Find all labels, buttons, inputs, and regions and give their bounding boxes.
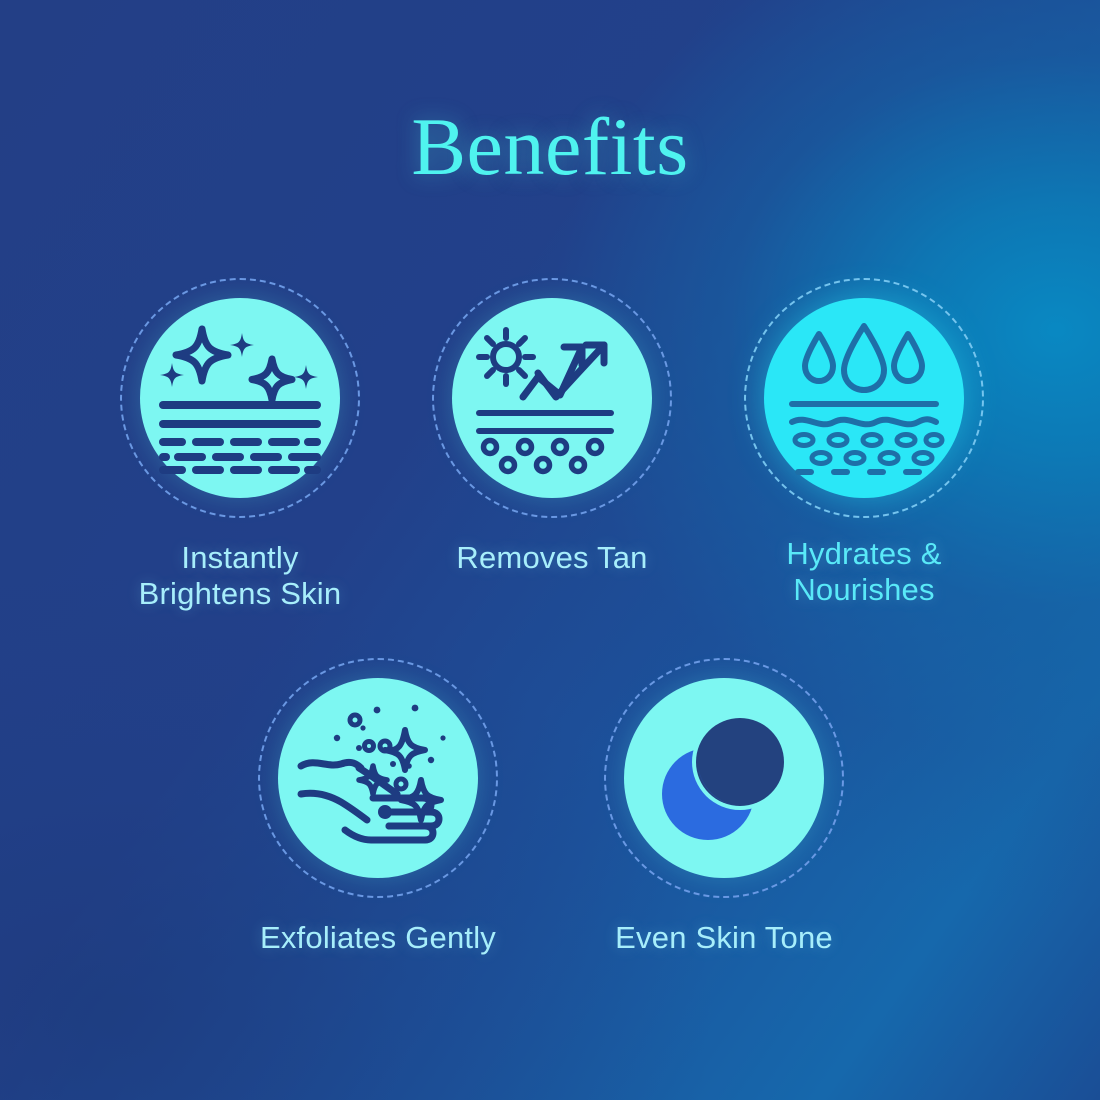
benefit-label-hydrates-nourishes: Hydrates & Nourishes — [674, 536, 1054, 608]
benefit-item-exfoliates-gently[interactable]: Exfoliates Gently — [258, 658, 498, 898]
benefit-item-instantly-brightens-skin[interactable]: Instantly Brightens Skin — [120, 278, 360, 518]
hand-sparkle-scrub-icon — [297, 702, 459, 854]
icon-disc — [624, 678, 824, 878]
benefit-label-exfoliates-gently: Exfoliates Gently — [188, 920, 568, 956]
icon-disc — [764, 298, 964, 498]
icon-disc — [452, 298, 652, 498]
sparkle-skin-layers-icon — [160, 323, 320, 473]
overlapping-tone-circles-icon — [654, 708, 794, 848]
benefits-page: Benefits — [0, 0, 1100, 1100]
page-title: Benefits — [0, 106, 1100, 188]
benefit-item-even-skin-tone[interactable]: Even Skin Tone — [604, 658, 844, 898]
benefit-item-removes-tan[interactable]: Removes Tan — [432, 278, 672, 518]
water-droplets-skin-icon — [789, 324, 939, 472]
icon-disc — [278, 678, 478, 878]
icon-disc — [140, 298, 340, 498]
benefit-label-even-skin-tone: Even Skin Tone — [534, 920, 914, 956]
benefit-item-hydrates-nourishes[interactable]: Hydrates & Nourishes — [744, 278, 984, 518]
sun-arrows-skin-icon — [476, 325, 628, 471]
